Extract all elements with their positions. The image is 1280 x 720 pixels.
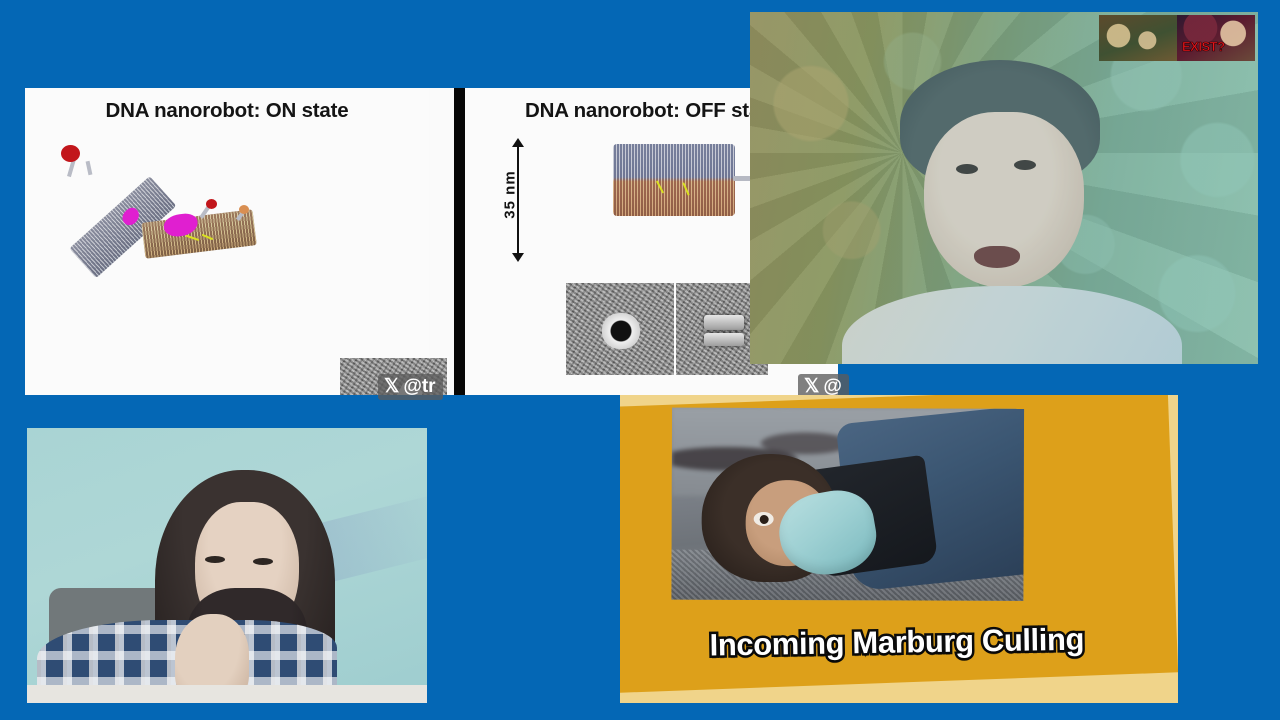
em-micrograph-off-front bbox=[564, 281, 676, 377]
picture-in-picture-strip[interactable]: EXIST? bbox=[1099, 15, 1255, 61]
em-particle-icon bbox=[704, 333, 744, 346]
em-particle-icon bbox=[602, 313, 640, 349]
eye bbox=[754, 512, 774, 526]
slide-panel-on-state: DNA nanorobot: ON state bbox=[25, 88, 429, 395]
meme-caption: Incoming Marburg Culling bbox=[620, 620, 1177, 665]
x-watermark-handle: @tr bbox=[403, 377, 435, 396]
meme-photo bbox=[671, 408, 1024, 601]
pip-thumbnail-label: EXIST? bbox=[1182, 39, 1225, 54]
barrel-texture-icon bbox=[613, 144, 735, 216]
presentation-slide[interactable]: DNA nanorobot: ON state bbox=[25, 88, 838, 395]
slide-title-on-state: DNA nanorobot: ON state bbox=[25, 99, 429, 123]
em-particle-icon bbox=[704, 315, 744, 330]
webcam-feed-guest[interactable] bbox=[27, 428, 427, 703]
size-annotation-label: 35 nm bbox=[502, 150, 519, 240]
slide-divider bbox=[454, 88, 465, 395]
eye-left bbox=[205, 556, 225, 563]
linker-stalk-icon bbox=[86, 161, 93, 176]
webcam-feed-host[interactable]: EXIST? bbox=[750, 12, 1258, 364]
size-annotation-35nm: 35 nm bbox=[493, 140, 531, 260]
nanorobot-on-diagram bbox=[43, 143, 273, 293]
arrow-down-icon bbox=[512, 253, 524, 262]
pip-thumbnail-left[interactable] bbox=[1099, 15, 1177, 61]
red-marker-icon bbox=[206, 199, 217, 209]
x-logo-icon: 𝕏 bbox=[804, 377, 818, 396]
desk-surface bbox=[27, 685, 427, 703]
meme-inner-panel: Incoming Marburg Culling bbox=[620, 395, 1178, 693]
arrow-up-icon bbox=[512, 138, 524, 147]
x-watermark-handle: @ bbox=[823, 377, 842, 396]
x-watermark-left: 𝕏 @tr bbox=[378, 374, 443, 400]
x-logo-icon: 𝕏 bbox=[384, 377, 398, 396]
video-tint-overlay bbox=[750, 12, 1258, 364]
meme-card[interactable]: Incoming Marburg Culling bbox=[620, 395, 1178, 703]
orange-marker-icon bbox=[239, 205, 249, 214]
pip-thumbnail-right[interactable]: EXIST? bbox=[1177, 15, 1255, 61]
red-marker-icon bbox=[61, 145, 80, 162]
nanorobot-off-barrel bbox=[613, 144, 735, 216]
eye-right bbox=[253, 558, 273, 565]
